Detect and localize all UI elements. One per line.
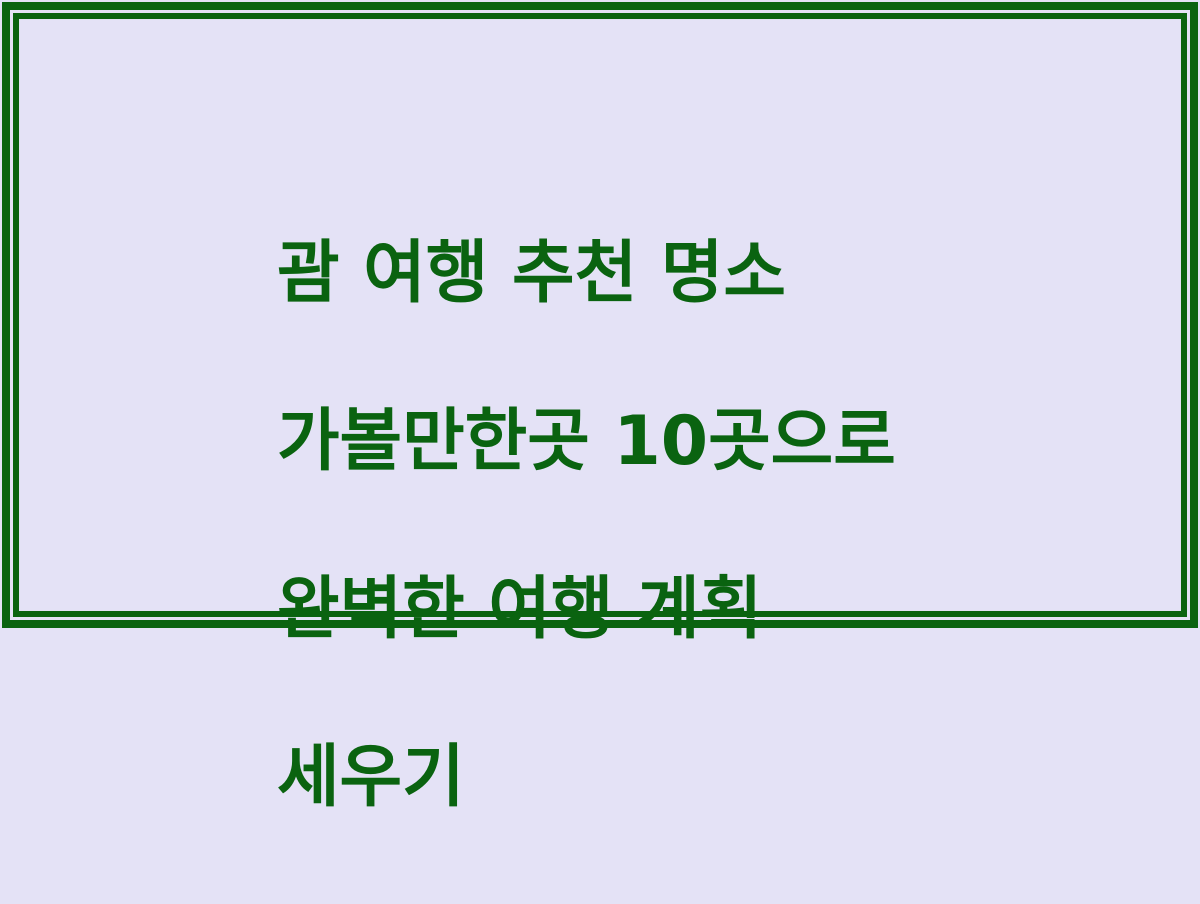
title-line-3: 완벽한 여행 계획 <box>277 568 1140 652</box>
page-title: 괌 여행 추천 명소 가볼만한곳 10곳으로 완벽한 여행 계획 세우기 <box>277 148 1140 904</box>
title-line-1: 괌 여행 추천 명소 <box>277 232 1140 316</box>
title-area: 괌 여행 추천 명소 가볼만한곳 10곳으로 완벽한 여행 계획 세우기 <box>0 0 1200 630</box>
title-line-4: 세우기 <box>277 736 1140 820</box>
thumbnail-card: 괌 여행 추천 명소 가볼만한곳 10곳으로 완벽한 여행 계획 세우기 <box>0 0 1200 630</box>
title-line-2: 가볼만한곳 10곳으로 <box>277 400 1140 484</box>
